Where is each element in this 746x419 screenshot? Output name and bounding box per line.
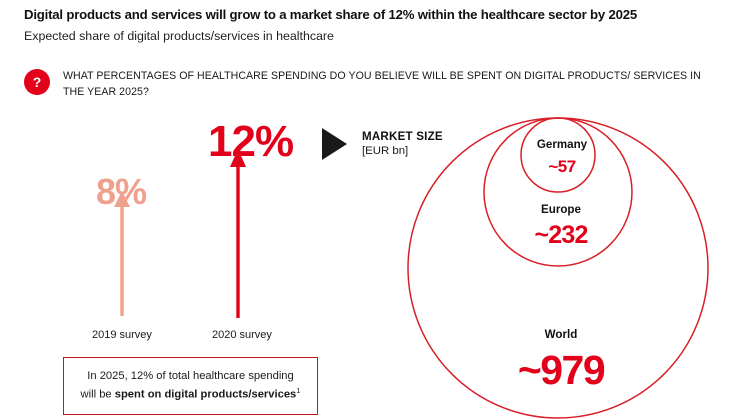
bubble-label-europe: Europe xyxy=(518,203,604,216)
callout-text: In 2025, 12% of total healthcare spendin… xyxy=(78,368,303,403)
page-subtitle: Expected share of digital products/servi… xyxy=(24,28,724,45)
play-triangle-icon xyxy=(322,128,347,160)
percentage-label-2020: 12% xyxy=(208,120,293,164)
bubble-value-germany: ~57 xyxy=(527,158,597,175)
survey-caption-2019: 2019 survey xyxy=(92,329,152,341)
question-mark-icon: ? xyxy=(24,69,50,95)
survey-question-text: WHAT PERCENTAGES OF HEALTHCARE SPENDING … xyxy=(63,68,711,101)
infographic-page: Digital products and services will grow … xyxy=(0,0,746,419)
callout-footnote-marker: 1 xyxy=(296,386,300,395)
growth-arrow-2019-icon xyxy=(112,188,132,318)
callout-box: In 2025, 12% of total healthcare spendin… xyxy=(63,357,318,415)
growth-arrow-2020-icon xyxy=(228,146,248,320)
bubble-circle-germany xyxy=(521,118,595,192)
survey-caption-2020: 2020 survey xyxy=(212,329,272,341)
callout-text-emphasis: spent on digital products/services xyxy=(115,389,297,401)
header: Digital products and services will grow … xyxy=(24,6,724,45)
bubble-value-world: ~979 xyxy=(498,350,624,391)
bubble-value-europe: ~232 xyxy=(513,223,609,248)
bubble-label-world: World xyxy=(518,328,604,341)
question-row: ? WHAT PERCENTAGES OF HEALTHCARE SPENDIN… xyxy=(24,68,724,101)
page-title: Digital products and services will grow … xyxy=(24,6,724,24)
bubble-label-germany: Germany xyxy=(527,138,597,151)
